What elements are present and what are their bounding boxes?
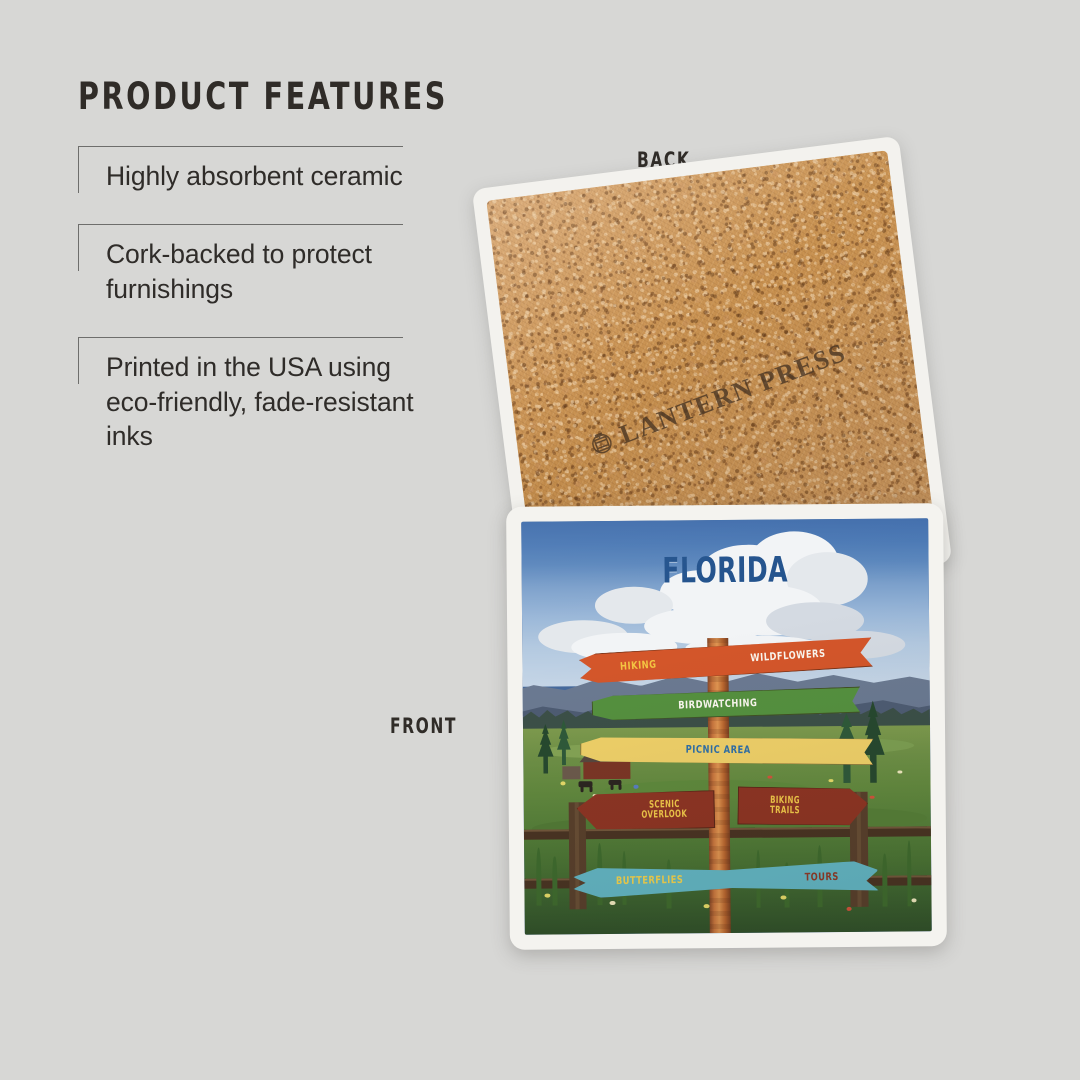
- fence-post: [568, 802, 586, 910]
- feature-divider: [78, 224, 403, 225]
- sign-label-butterflies: BUTTERFLIES: [615, 875, 682, 887]
- feature-divider: [78, 146, 403, 147]
- feature-tick: [78, 147, 79, 193]
- product-features-panel: PRODUCT FEATURES Highly absorbent cerami…: [78, 78, 423, 454]
- flower: [781, 895, 787, 899]
- sign-label-scenic-overlook: SCENIC OVERLOOK: [638, 799, 690, 821]
- sign-label-wildflowers: WILDFLOWERS: [750, 649, 826, 665]
- feature-text: Cork-backed to protect furnishings: [106, 224, 423, 306]
- sign-scenic-overlook: SCENIC OVERLOOK: [576, 790, 715, 831]
- page-title: PRODUCT FEATURES: [78, 78, 375, 115]
- grass-blade: [882, 853, 887, 907]
- flower: [545, 893, 551, 897]
- sign-label-birdwatching: BIRDWATCHING: [678, 698, 757, 711]
- horse: [580, 786, 583, 792]
- feature-text: Printed in the USA using eco-friendly, f…: [106, 337, 423, 453]
- sign-label-picnic-area: PICNIC AREA: [686, 745, 751, 756]
- sign-label-biking-trails: BIKING TRAILS: [767, 796, 801, 817]
- sign-label-tours: TOURS: [804, 872, 838, 883]
- sign-label-scenic-line2: OVERLOOK: [641, 810, 687, 821]
- feature-item: Cork-backed to protect furnishings: [78, 224, 423, 306]
- feature-tick: [78, 338, 79, 384]
- label-front: FRONT: [390, 714, 457, 738]
- artwork-tile: FLORIDA: [521, 518, 932, 935]
- feature-item: Highly absorbent ceramic: [78, 146, 423, 193]
- sign-picnic-area: PICNIC AREA: [580, 736, 873, 766]
- coaster-front: FLORIDA: [506, 503, 947, 950]
- sign-label-biking-line2: TRAILS: [769, 806, 799, 817]
- feature-divider: [78, 337, 403, 338]
- horse: [618, 784, 621, 790]
- horse: [589, 786, 592, 792]
- grass-blade: [553, 856, 557, 906]
- flower: [633, 785, 638, 788]
- flower: [610, 901, 615, 905]
- artwork-title: FLORIDA: [562, 550, 888, 593]
- feature-tick: [78, 225, 79, 271]
- barn-body: [584, 760, 631, 779]
- feature-text: Highly absorbent ceramic: [106, 146, 423, 193]
- sign-biking-trails: BIKING TRAILS: [737, 787, 868, 827]
- flower: [846, 907, 851, 911]
- sign-label-hiking: HIKING: [619, 660, 656, 673]
- barn-shed: [563, 766, 580, 779]
- feature-item: Printed in the USA using eco-friendly, f…: [78, 337, 423, 453]
- flower: [911, 898, 916, 902]
- flower: [560, 782, 565, 786]
- horse: [611, 784, 614, 790]
